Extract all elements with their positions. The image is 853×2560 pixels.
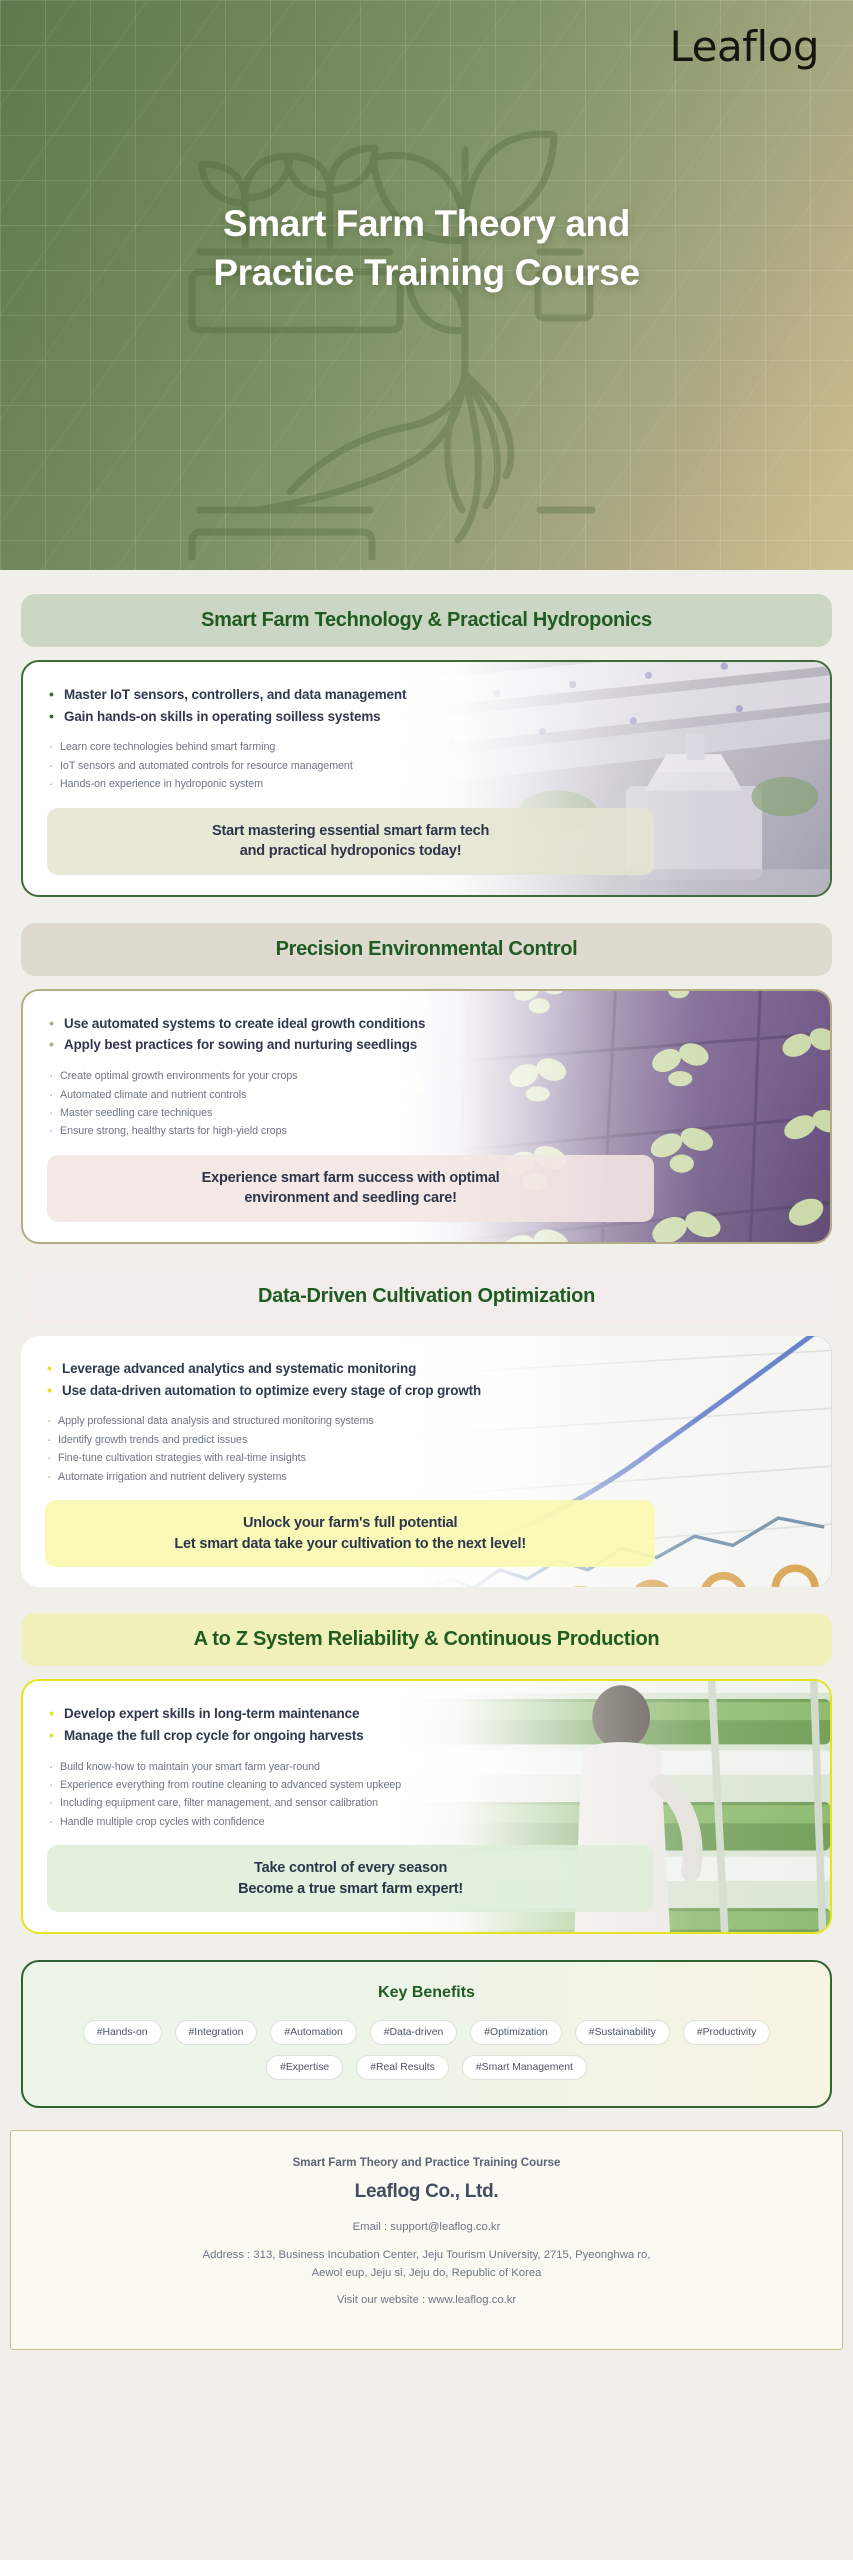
page-footer: Smart Farm Theory and Practice Training … (10, 2130, 843, 2349)
section-heading: Smart Farm Technology & Practical Hydrop… (21, 594, 832, 647)
key-point: Use data-driven automation to optimize e… (45, 1380, 808, 1402)
section-detail-points: Build know-how to maintain your smart fa… (47, 1758, 806, 1832)
footer-email[interactable]: Email : support@leaflog.co.kr (41, 2218, 812, 2236)
detail-point: Automated climate and nutrient controls (47, 1086, 806, 1104)
detail-point: Build know-how to maintain your smart fa… (47, 1758, 806, 1776)
cta-line-1: Start mastering essential smart farm tec… (63, 821, 638, 842)
benefit-tag[interactable]: #Hands-on (83, 2020, 162, 2045)
footer-address: Address : 313, Business Incubation Cente… (41, 2246, 812, 2283)
cta-line-2: environment and seedling care! (63, 1188, 638, 1209)
section-card: Develop expert skills in long-term maint… (21, 1679, 832, 1934)
benefit-tag[interactable]: #Optimization (470, 2020, 562, 2045)
section-cta-banner: Unlock your farm's full potential Let sm… (45, 1500, 655, 1567)
footer-address-line-2: Aewol eup, Jeju si, Jeju do, Republic of… (41, 2264, 812, 2282)
section-system-reliability: A to Z System Reliability & Continuous P… (21, 1613, 832, 1934)
section-key-points: Leverage advanced analytics and systemat… (45, 1358, 808, 1401)
section-key-points: Use automated systems to create ideal gr… (47, 1013, 806, 1056)
detail-point: IoT sensors and automated controls for r… (47, 757, 806, 775)
benefit-tag[interactable]: #Integration (175, 2020, 258, 2045)
key-point: Develop expert skills in long-term maint… (47, 1703, 806, 1725)
section-cta-banner: Experience smart farm success with optim… (47, 1155, 654, 1222)
section-heading: A to Z System Reliability & Continuous P… (21, 1613, 832, 1666)
page-title-line-1: Smart Farm Theory and (60, 200, 793, 249)
cta-line-1: Take control of every season (63, 1858, 638, 1879)
section-card: Leverage advanced analytics and systemat… (21, 1336, 832, 1587)
section-card-body: Develop expert skills in long-term maint… (23, 1681, 830, 1932)
section-precision-environmental-control: Precision Environmental Control (21, 923, 832, 1244)
section-key-points: Master IoT sensors, controllers, and dat… (47, 684, 806, 727)
detail-point: Fine-tune cultivation strategies with re… (45, 1449, 808, 1467)
key-point: Manage the full crop cycle for ongoing h… (47, 1725, 806, 1747)
section-detail-points: Create optimal growth environments for y… (47, 1067, 806, 1141)
footer-address-line-1: Address : 313, Business Incubation Cente… (41, 2246, 812, 2264)
benefit-tag[interactable]: #Expertise (266, 2055, 343, 2080)
benefit-tag[interactable]: #Smart Management (462, 2055, 587, 2080)
benefit-tag[interactable]: #Data-driven (370, 2020, 458, 2045)
sections-container: Smart Farm Technology & Practical Hydrop… (0, 570, 853, 1934)
footer-course-name: Smart Farm Theory and Practice Training … (41, 2157, 812, 2169)
section-detail-points: Apply professional data analysis and str… (45, 1412, 808, 1486)
section-card-body: Master IoT sensors, controllers, and dat… (23, 662, 830, 895)
key-point: Leverage advanced analytics and systemat… (45, 1358, 808, 1380)
section-cta-banner: Start mastering essential smart farm tec… (47, 808, 654, 875)
section-smart-farm-technology: Smart Farm Technology & Practical Hydrop… (21, 594, 832, 897)
detail-point: Learn core technologies behind smart far… (47, 738, 806, 756)
key-point: Gain hands-on skills in operating soille… (47, 706, 806, 728)
detail-point: Experience everything from routine clean… (47, 1776, 806, 1794)
page-title-line-2: Practice Training Course (60, 249, 793, 298)
key-benefits-box: Key Benefits #Hands-on #Integration #Aut… (21, 1960, 832, 2108)
detail-point: Automate irrigation and nutrient deliver… (45, 1468, 808, 1486)
sprout-and-roots-illustration (140, 40, 700, 560)
section-heading: Data-Driven Cultivation Optimization (21, 1270, 832, 1323)
detail-point: Hands-on experience in hydroponic system (47, 775, 806, 793)
section-cta-banner: Take control of every season Become a tr… (47, 1845, 654, 1912)
section-card-body: Leverage advanced analytics and systemat… (21, 1336, 832, 1587)
section-card-body: Use automated systems to create ideal gr… (23, 991, 830, 1242)
detail-point: Identify growth trends and predict issue… (45, 1431, 808, 1449)
key-point: Master IoT sensors, controllers, and dat… (47, 684, 806, 706)
cta-line-2: Become a true smart farm expert! (63, 1879, 638, 1900)
section-detail-points: Learn core technologies behind smart far… (47, 738, 806, 793)
cta-line-2: Let smart data take your cultivation to … (61, 1534, 639, 1555)
leaflog-logo: Leaflog (669, 22, 819, 71)
cta-line-1: Experience smart farm success with optim… (63, 1168, 638, 1189)
key-point: Apply best practices for sowing and nurt… (47, 1034, 806, 1056)
section-data-driven-cultivation: Data-Driven Cultivation Optimization (21, 1270, 832, 1587)
detail-point: Apply professional data analysis and str… (45, 1412, 808, 1430)
page-title: Smart Farm Theory and Practice Training … (0, 200, 853, 298)
section-heading: Precision Environmental Control (21, 923, 832, 976)
section-card: Master IoT sensors, controllers, and dat… (21, 660, 832, 897)
benefit-tag[interactable]: #Automation (270, 2020, 356, 2045)
footer-website[interactable]: Visit our website : www.leaflog.co.kr (41, 2291, 812, 2309)
benefit-tag[interactable]: #Productivity (683, 2020, 770, 2045)
key-point: Use automated systems to create ideal gr… (47, 1013, 806, 1035)
benefit-tag[interactable]: #Real Results (356, 2055, 449, 2080)
detail-point: Master seedling care techniques (47, 1104, 806, 1122)
key-benefits-title: Key Benefits (49, 1984, 804, 2002)
footer-company-name: Leaflog Co., Ltd. (41, 2181, 812, 2203)
benefit-tag-list: #Hands-on #Integration #Automation #Data… (49, 2020, 804, 2080)
section-key-points: Develop expert skills in long-term maint… (47, 1703, 806, 1746)
cta-line-2: and practical hydroponics today! (63, 841, 638, 862)
infographic-page: Leaflog Smart Farm Theory and Practice T… (0, 0, 853, 2560)
benefit-tag[interactable]: #Sustainability (575, 2020, 670, 2045)
detail-point: Create optimal growth environments for y… (47, 1067, 806, 1085)
detail-point: Handle multiple crop cycles with confide… (47, 1813, 806, 1831)
hero-banner: Leaflog Smart Farm Theory and Practice T… (0, 0, 853, 570)
cta-line-1: Unlock your farm's full potential (61, 1513, 639, 1534)
detail-point: Including equipment care, filter managem… (47, 1794, 806, 1812)
detail-point: Ensure strong, healthy starts for high-y… (47, 1122, 806, 1140)
section-card: Use automated systems to create ideal gr… (21, 989, 832, 1244)
